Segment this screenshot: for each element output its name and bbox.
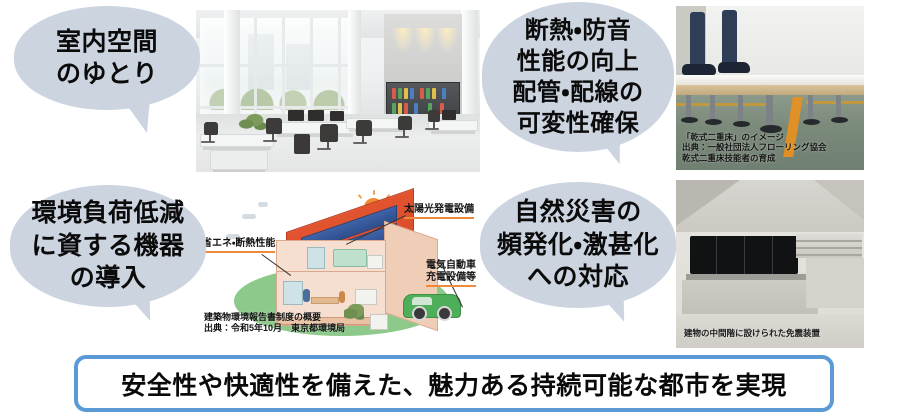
car-window [412, 297, 432, 305]
steel-damper-rail [796, 234, 862, 258]
conclusion-banner: 安全性や快適性を備えた、魅力ある持続可能な都市を実現 [74, 355, 834, 412]
diagram-label-ev: 電気自動車 充電設備等 [426, 260, 476, 287]
worker-leg [690, 12, 705, 68]
binder [432, 88, 436, 99]
beam-haunch [814, 180, 864, 220]
appliance [355, 289, 377, 305]
pedestal-base [733, 121, 750, 127]
binder [392, 88, 396, 99]
seismic-photo-caption: 建物の中間階に設けられた免震装置 [684, 328, 864, 338]
house-diagram-caption: 建築物環境報告書制度の概要 出典：令和5年10月 東京都環境局 [204, 312, 414, 334]
sun-ray [373, 190, 375, 195]
window-mullion [254, 18, 257, 126]
house-window [307, 247, 325, 269]
floor-marking [806, 101, 864, 104]
conclusion-banner-text: 安全性や快適性を備えた、魅力ある持続可能な都市を実現 [121, 366, 787, 402]
binder [420, 88, 424, 99]
office-desk [274, 122, 356, 134]
binder [410, 88, 414, 99]
car-wheel [437, 306, 452, 321]
diagram-label-solar: 太陽光発電設備 [404, 204, 474, 219]
skyline-building [286, 44, 312, 90]
isolator-seam [716, 236, 717, 274]
person-figure [303, 289, 310, 302]
binder [414, 103, 418, 114]
dining-table [311, 297, 339, 304]
binder [442, 88, 446, 99]
office-monitor [288, 110, 304, 121]
binder [398, 88, 402, 99]
floor-pedestal [686, 95, 691, 119]
person-figure [339, 291, 345, 303]
diagram-label-envelope: 省エネ・断熱性能 [202, 238, 275, 253]
office-monitor [330, 111, 344, 121]
pedestal-base [681, 117, 698, 123]
bubble-disaster: 自然災害の 頻発化・激甚化 への対応 [480, 182, 676, 308]
bubble-insulation: 断熱・防音 性能の向上 配管・配線の 可変性確保 [482, 2, 674, 152]
bubble-eco-equipment-text: 環境負荷低減 に資する機器 の導入 [31, 197, 184, 295]
bubble-tail [119, 90, 157, 136]
worker-leg [722, 10, 737, 64]
office-monitor [308, 110, 324, 121]
cloud-icon [258, 202, 268, 207]
adjacent-structure [806, 258, 864, 308]
rail-line [796, 247, 862, 249]
bed [333, 249, 367, 267]
office-plant [238, 112, 266, 132]
bubble-insulation-text: 断熱・防音 性能の向上 配管・配線の 可変性確保 [512, 15, 643, 140]
wall-light [436, 28, 458, 54]
pedestal-base [705, 119, 722, 125]
waste-bin [294, 134, 310, 154]
house-window [283, 281, 303, 305]
office-cabinet [210, 150, 268, 170]
office-chair [204, 122, 218, 135]
binder [404, 103, 408, 114]
binder [398, 103, 402, 114]
pedestal-base [831, 117, 848, 123]
floor-line [277, 271, 385, 272]
binder [404, 88, 408, 99]
worker-shoe [718, 62, 750, 73]
seismic-isolator [690, 236, 798, 274]
floor-pedestal [766, 95, 773, 125]
floor-plywood [676, 85, 864, 95]
office-desk [346, 118, 406, 129]
bubble-disaster-text: 自然災害の 頻発化・激甚化 への対応 [497, 196, 659, 294]
office-monitor [442, 110, 456, 120]
wall-light [392, 28, 414, 54]
binder [392, 103, 396, 114]
bubble-indoor-space: 室内空間 のゆとり [14, 6, 200, 110]
office-chair [266, 118, 282, 134]
slide-canvas: 「乾式二重床」のイメージ 出典：一般社団法人フローリング協会 乾式二重床技能者の… [0, 0, 900, 418]
window-mullion [282, 18, 285, 126]
beam-haunch [676, 180, 740, 226]
pedestal-base [803, 119, 820, 125]
isolator-seam [772, 236, 773, 274]
wall-light [414, 28, 436, 54]
office-chair [428, 110, 440, 122]
office-chair [320, 124, 338, 142]
car-wheel [412, 306, 427, 321]
office-photo [196, 10, 480, 172]
office-chair [398, 116, 412, 130]
bubble-indoor-space-text: 室内空間 のゆとり [56, 26, 158, 91]
binder [426, 88, 430, 99]
skyline-building [248, 34, 274, 90]
rail-line [796, 240, 862, 242]
floor-pedestal [836, 95, 841, 119]
floor-pedestal [808, 95, 813, 121]
floor-pedestal [738, 95, 743, 123]
bubble-eco-equipment: 環境負荷低減 に資する機器 の導入 [10, 185, 206, 307]
seismic-photo [676, 180, 864, 348]
raised-floor-caption: 「乾式二重床」のイメージ 出典：一般社団法人フローリング協会 乾式二重床技能者の… [682, 132, 872, 163]
isolator-seam [744, 236, 745, 274]
rail-line [796, 254, 862, 256]
cloud-icon [242, 214, 256, 219]
office-chair [356, 120, 372, 136]
window-mullion [338, 18, 341, 126]
floor-pedestal [710, 95, 715, 121]
furniture [367, 255, 383, 269]
worker-shoe [682, 64, 716, 75]
